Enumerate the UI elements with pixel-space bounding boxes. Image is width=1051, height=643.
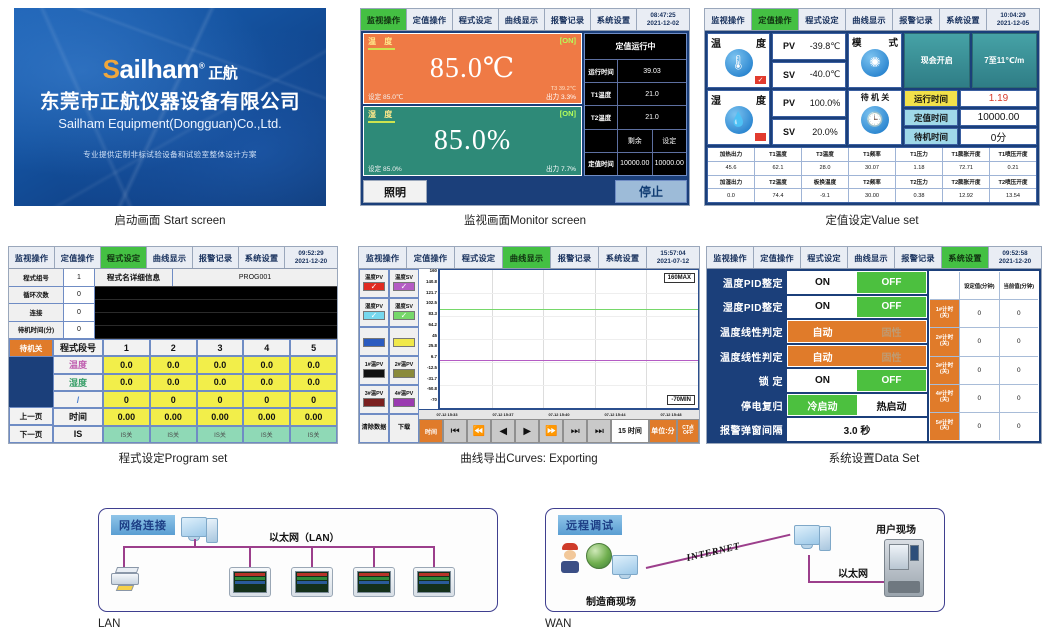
setting-temp-linear-1: 温度线性判定 自动 固性 — [709, 320, 927, 343]
panel-curves-screen: 监视操作 定值操作 程式设定 曲线显示 报警记录 系统设置 15:57:04 2… — [358, 246, 700, 444]
temperature-sv-value: -40.0℃ — [805, 69, 845, 80]
interval-field[interactable]: 15 时间 — [611, 419, 648, 443]
system-settings-list: 温度PID整定 ON OFF 湿度PID整定 ON OFF — [709, 271, 927, 441]
timer-key: 4#计时 (关) — [930, 385, 960, 412]
time-cell[interactable]: 0.00 — [197, 408, 244, 425]
is-cell[interactable]: IS关 — [243, 426, 290, 443]
standby-time-value[interactable]: 0分 — [960, 128, 1037, 145]
timer-key: 2#计时 (关) — [930, 328, 960, 355]
program-screen: 监视操作 定值操作 程式设定 曲线显示 报警记录 系统设置 09:52:29 2… — [8, 246, 338, 444]
unit-button[interactable]: 单位:分 — [649, 419, 677, 443]
setting-toggle: 冷启动 热启动 — [787, 394, 927, 417]
time-mode-button[interactable]: 时间 — [419, 419, 443, 443]
humidity-value: 85.0% — [364, 125, 581, 157]
legend-swatch[interactable] — [393, 369, 415, 378]
legend-item-t2[interactable]: 2#温PV — [389, 356, 419, 385]
clear-data-label: 清除数据 — [362, 425, 387, 431]
standby-off-button[interactable]: 待机关 — [9, 339, 53, 357]
timer-set-value[interactable]: 0 — [960, 357, 1000, 384]
program-clock-date: 2021-12-20 — [295, 258, 327, 266]
option-off[interactable]: OFF — [857, 297, 926, 318]
timer-key: 3#计时 (关) — [930, 357, 960, 384]
is-cell[interactable]: IS关 — [197, 426, 244, 443]
legend-label: 湿度SV — [395, 305, 413, 310]
slash-cell[interactable]: 0 — [197, 391, 244, 408]
globe-icon — [586, 543, 612, 569]
monitor-clock-date: 2021-12-02 — [647, 20, 679, 28]
option-off[interactable]: OFF — [857, 370, 926, 391]
prev-page-button[interactable]: 上一页 — [9, 407, 53, 425]
program-tabbar: 监视操作 定值操作 程式设定 曲线显示 报警记录 系统设置 09:52:29 2… — [9, 247, 337, 269]
nav-fast-back-button[interactable]: ⏪ — [467, 419, 491, 443]
option-cold-start[interactable]: 冷启动 — [788, 395, 857, 416]
row-key-time: 时间 — [53, 408, 103, 425]
valueset-timer-row: 定值时间 10000.00 — [904, 109, 1037, 126]
humi-cell[interactable]: 0.0 — [243, 374, 290, 391]
legend-item-humi-sv[interactable]: 湿度SV — [389, 298, 419, 327]
program-row-time: 时间 0.00 0.00 0.00 0.00 0.00 — [53, 408, 337, 425]
temperature-state: [ON] — [560, 36, 576, 45]
timers-header-current: 当前值(分钟) — [1000, 272, 1039, 299]
ct-off-line2: OFF — [683, 431, 693, 436]
option-fixed[interactable]: 固性 — [857, 321, 926, 342]
fixed-time-value[interactable]: 10000.00 — [960, 109, 1037, 126]
legend-label: 4#温PV — [395, 392, 414, 397]
curves-tabbar: 监视操作 定值操作 程式设定 曲线显示 报警记录 系统设置 15:57:04 2… — [359, 247, 699, 269]
legend-swatch[interactable] — [393, 311, 415, 320]
system-body: 温度PID整定 ON OFF 湿度PID整定 ON OFF — [707, 269, 1041, 443]
setting-lock: 锁 定 ON OFF — [709, 369, 927, 392]
temperature-setpoint: 设定 85.0℃ — [368, 91, 403, 101]
ramp-rate-button[interactable]: 7至11℃/m — [972, 33, 1038, 88]
timer-current-value: 0 — [1000, 385, 1039, 412]
temp-cell[interactable]: 0.0 — [243, 356, 290, 373]
valueset-timer-row: 待机时间 0分 — [904, 128, 1037, 145]
meta-value[interactable]: 0 — [64, 287, 94, 304]
valueset-temp-row: 温 度 🌡 ✓ PV -39.8℃ SV — [707, 33, 1037, 88]
wan-tag: 远程调试 — [558, 515, 622, 535]
col-header: 4 — [243, 339, 290, 356]
nav-fast-forward-button[interactable]: ⏩ — [539, 419, 563, 443]
time-cell[interactable]: 0.00 — [150, 408, 197, 425]
humidity-enable-check[interactable] — [754, 132, 767, 142]
chart-min-badge: -70MIN — [667, 395, 695, 405]
nav-last-button[interactable]: ⏭ — [563, 419, 587, 443]
meta-value[interactable]: 1 — [64, 269, 94, 286]
table-cell: 12.92 — [943, 189, 990, 202]
program-row-humi: 湿度 0.0 0.0 0.0 0.0 0.0 — [53, 374, 337, 391]
tab-valueset[interactable]: 定值操作 — [55, 247, 101, 268]
humidity-sv-value: 20.0% — [805, 127, 845, 137]
legend-row: 3#温PV 4#温PV — [359, 385, 419, 414]
table-cell: T2频率 — [849, 176, 896, 189]
nav-first-button[interactable]: ⏮ — [443, 419, 467, 443]
table-cell: T1频率 — [849, 148, 896, 161]
monitor-footer: 照明 停止 — [361, 178, 689, 205]
tab-program[interactable]: 程式设定 — [101, 247, 147, 268]
tab-valueset[interactable]: 定值操作 — [754, 247, 801, 268]
drop-wire — [249, 546, 251, 568]
temperature-tile-label-b: 度 — [756, 35, 766, 50]
timer-row: 5#计时 (关) 0 0 — [930, 413, 1038, 440]
table-cell: 45.6 — [708, 162, 755, 175]
program-name-value[interactable]: PROG001 — [173, 269, 337, 286]
table-cell: 74.4 — [755, 189, 802, 202]
legend-label: 温度SV — [395, 276, 413, 281]
humidity-pv-key: PV — [773, 98, 805, 108]
program-grid-spacer — [9, 357, 53, 407]
brand-logo-reg: ® — [199, 62, 204, 71]
alarm-interval-field[interactable]: 3.0 秒 — [787, 418, 927, 441]
option-on[interactable]: ON — [788, 297, 857, 318]
timer-row: 4#计时 (关) 0 0 — [930, 385, 1038, 413]
tab-alarms[interactable]: 报警记录 — [895, 247, 942, 268]
drop-wire — [311, 546, 313, 568]
temperature-icon-tile[interactable]: 温 度 🌡 ✓ — [707, 33, 770, 88]
program-name-header: 程式名详细信息 PROG001 — [95, 269, 337, 286]
is-cell[interactable]: IS关 — [103, 426, 150, 443]
alarm-interval-value[interactable]: 3.0 秒 — [788, 419, 926, 440]
setting-toggle: 自动 固性 — [787, 345, 927, 368]
tab-monitor[interactable]: 监视操作 — [705, 9, 752, 30]
valueset-screen: 监视操作 定值操作 程式设定 曲线显示 报警记录 系统设置 10:04:29 2… — [704, 8, 1040, 206]
tab-alarms[interactable]: 报警记录 — [893, 9, 940, 30]
mode-tile-label-b: 式 — [888, 35, 898, 49]
temp-cell[interactable]: 0.0 — [197, 356, 244, 373]
status-subhead-remaining: 剩余 — [618, 130, 653, 152]
series-temp-sv — [440, 360, 698, 361]
tab-valueset[interactable]: 定值操作 — [407, 247, 455, 268]
server-pc-icon — [794, 525, 820, 549]
tab-monitor[interactable]: 监视操作 — [361, 9, 407, 30]
option-on[interactable]: ON — [788, 272, 857, 293]
table-cell: 1.18 — [896, 162, 943, 175]
tab-program[interactable]: 程式设定 — [455, 247, 503, 268]
tab-curves[interactable]: 曲线显示 — [848, 247, 895, 268]
program-name-label[interactable]: 程式名详细信息 — [95, 269, 173, 286]
panel-monitor-screen: 监视操作 定值操作 程式设定 曲线显示 报警记录 系统设置 08:47:25 2… — [360, 8, 690, 206]
humidity-readout[interactable]: 湿 度 [ON] 85.0% 设定 85.0% 出力 7.7% — [363, 106, 582, 177]
valueset-humi-row: 湿 度 💧 PV 100.0% SV — [707, 90, 1037, 145]
timer-key-line2: (关) — [940, 370, 949, 376]
humidity-sv-cell[interactable]: SV 20.0% — [772, 119, 846, 146]
y-tick: 140.8 — [419, 280, 438, 291]
option-auto[interactable]: 自动 — [788, 321, 857, 342]
humidity-setpoint: 设定 85.0% — [368, 163, 402, 173]
setting-toggle: ON OFF — [787, 271, 927, 294]
run-start-button[interactable]: 现会开启 — [904, 33, 970, 88]
option-auto[interactable]: 自动 — [788, 346, 857, 367]
meta-key: 程式组号 — [9, 269, 64, 286]
download-button[interactable]: 下载 — [389, 414, 419, 443]
system-clock-date: 2021-12-20 — [999, 258, 1031, 266]
brand-logo-s: S — [103, 54, 120, 84]
is-cell[interactable]: IS关 — [290, 426, 337, 443]
is-cell[interactable]: IS关 — [150, 426, 197, 443]
system-clock: 09:52:58 2021-12-20 — [989, 247, 1041, 268]
water-drop-icon: 💧 — [725, 106, 753, 134]
timer-current-value: 0 — [1000, 328, 1039, 355]
monitor-status-row: T1温度 21.0 — [585, 83, 686, 106]
humi-cell[interactable]: 0.0 — [290, 374, 337, 391]
meta-value[interactable]: 0 — [64, 322, 94, 339]
legend-swatch[interactable] — [363, 311, 385, 320]
monitor-status-title: 定值运行中 — [585, 34, 686, 60]
interval-label: 时间 — [628, 426, 642, 436]
meta-row: 程式组号 1 — [9, 269, 94, 287]
table-cell: -9.1 — [802, 189, 849, 202]
internet-label: INTERNET — [685, 541, 741, 564]
legend-item-spare-yellow[interactable] — [389, 327, 419, 356]
humidity-output-value: 7.7% — [561, 166, 576, 173]
lan-ethernet-label: 以太网（LAN） — [269, 529, 340, 544]
status-key: T1温度 — [585, 83, 618, 105]
setting-label: 停电复归 — [709, 394, 785, 417]
humidity-state: [ON] — [560, 109, 576, 118]
tab-program[interactable]: 程式设定 — [799, 9, 846, 30]
caption-program: 程式设定Program set — [8, 450, 338, 466]
setting-label: 温度线性判定 — [709, 320, 785, 343]
chart-plot[interactable]: 160MAX -70MIN — [439, 269, 699, 409]
wan-user-label: 用户现场 — [876, 521, 916, 536]
humidity-output-label: 出力 — [546, 166, 559, 173]
program-grid-cols: 程式段号 1 2 3 4 5 温度 0.0 0.0 0.0 0.0 — [53, 339, 337, 443]
temperature-readout[interactable]: 温 度 [ON] 85.0℃ 设定 85.0℃ T3 39.2℃ 出力 3.3% — [363, 33, 582, 104]
program-clock: 09:52:29 2021-12-20 — [285, 247, 337, 268]
tab-system[interactable]: 系统设置 — [591, 9, 637, 30]
humidity-setpoint-value: 85.0% — [383, 166, 402, 173]
temperature-sv-cell[interactable]: SV -40.0℃ — [772, 62, 846, 89]
table-cell: T1膨胀开度 — [943, 148, 990, 161]
temperature-value: 85.0℃ — [364, 51, 581, 85]
wan-site-label: 制造商现场 — [586, 593, 636, 608]
wan-ethernet-label: 以太网 — [838, 565, 868, 580]
temp-cell[interactable]: 0.0 — [103, 356, 150, 373]
x-tick: 07-12 15:40 — [531, 410, 587, 419]
legend-swatch[interactable] — [363, 369, 385, 378]
caption-lan: LAN — [98, 618, 158, 630]
panel-lan-diagram: 网络连接 以太网（LAN） — [98, 508, 498, 612]
setting-label: 湿度PID整定 — [709, 296, 785, 319]
legend-item-temp-pv[interactable]: 温度PV — [359, 269, 389, 298]
slash-cell[interactable]: 0 — [243, 391, 290, 408]
humi-cell[interactable]: 0.0 — [150, 374, 197, 391]
slash-cell[interactable]: 0 — [290, 391, 337, 408]
tab-program[interactable]: 程式设定 — [801, 247, 848, 268]
x-tick: 07-12 15:33 — [419, 410, 475, 419]
program-clock-time: 09:52:29 — [298, 250, 323, 258]
legend-item-t1[interactable]: 1#温PV — [359, 356, 389, 385]
humi-cell[interactable]: 0.0 — [103, 374, 150, 391]
time-cell[interactable]: 0.00 — [243, 408, 290, 425]
panel-valueset-screen: 监视操作 定值操作 程式设定 曲线显示 报警记录 系统设置 10:04:29 2… — [704, 8, 1040, 206]
tab-alarms[interactable]: 报警记录 — [551, 247, 599, 268]
timer-set-value[interactable]: 0 — [960, 328, 1000, 355]
legend-row — [359, 327, 419, 356]
caption-curves: 曲线导出Curves: Exporting — [358, 450, 700, 466]
caption-valueset: 定值设定Value set — [704, 212, 1040, 228]
tab-system[interactable]: 系统设置 — [940, 9, 987, 30]
legend-item-temp-sv[interactable]: 温度SV — [389, 269, 419, 298]
wan-diagram: 远程调试 制造商现场 INTERNET 以太网 用户现场 — [545, 508, 945, 612]
program-grid: 待机关 上一页 下一页 程式段号 1 2 3 4 5 — [9, 339, 337, 443]
temp-cell[interactable]: 0.0 — [290, 356, 337, 373]
stop-button[interactable]: 停止 — [615, 180, 687, 203]
table-cell: T2温度 — [755, 176, 802, 189]
site-pc-icon — [612, 555, 638, 579]
fan-icon: ✺ — [861, 49, 889, 77]
nav-end-button[interactable]: ⏭ — [587, 419, 611, 443]
monitor-timer-row: 定值时间 10000.00 10000.00 — [585, 153, 686, 175]
panel-wan-diagram: 远程调试 制造商现场 INTERNET 以太网 用户现场 — [545, 508, 945, 612]
timer-set-value[interactable]: 0 — [960, 413, 1000, 440]
timer-key-line2: (关) — [940, 398, 949, 404]
timer-key-line2: (关) — [940, 314, 949, 320]
x-tick: 07-12 15:48 — [643, 410, 699, 419]
monitor-readouts: 温 度 [ON] 85.0℃ 设定 85.0℃ T3 39.2℃ 出力 3.3%… — [363, 33, 582, 176]
download-label: 下载 — [398, 425, 410, 431]
time-cell[interactable]: 0.00 — [103, 408, 150, 425]
option-off[interactable]: OFF — [857, 272, 926, 293]
status-subhead-set: 设定 — [653, 130, 687, 152]
legend-swatch[interactable] — [363, 282, 385, 291]
table-cell: 72.71 — [943, 162, 990, 175]
tab-system[interactable]: 系统设置 — [942, 247, 989, 268]
legend-swatch[interactable] — [363, 338, 385, 347]
humi-cell[interactable]: 0.0 — [197, 374, 244, 391]
curves-body: 温度PV 温度SV 湿度PV — [359, 269, 699, 443]
legend-swatch[interactable] — [363, 398, 385, 407]
valueset-clock: 10:04:29 2021-12-05 — [987, 9, 1039, 30]
legend-item-t4[interactable]: 4#温PV — [389, 385, 419, 414]
time-cell[interactable]: 0.00 — [290, 408, 337, 425]
legend-label: 温度PV — [365, 276, 383, 281]
table-row: 加湿出力 T2温度 板换温度 T2频率 T2压力 T2膨胀开度 T2喷压开度 — [708, 176, 1036, 190]
series-humi-sv — [440, 309, 698, 310]
tab-curves[interactable]: 曲线显示 — [846, 9, 893, 30]
temperature-output: 出力 3.3% — [546, 91, 576, 101]
option-fixed[interactable]: 固性 — [857, 346, 926, 367]
timer-key: 5#计时 (关) — [930, 413, 960, 440]
timer-set-value[interactable]: 0 — [960, 300, 1000, 327]
tab-valueset[interactable]: 定值操作 — [407, 9, 453, 30]
legend-swatch[interactable] — [393, 398, 415, 407]
table-row: 45.6 62.1 28.0 30.07 1.18 72.71 0.21 — [708, 162, 1036, 176]
standby-tile-label: 待 机 关 — [852, 92, 898, 103]
row-key-humidity: 湿度 — [53, 374, 103, 391]
tab-valueset[interactable]: 定值操作 — [752, 9, 799, 30]
timer-key-line2: (关) — [940, 342, 949, 348]
standby-icon-tile[interactable]: 待 机 关 🕒 — [848, 90, 902, 145]
table-cell: T1喷压开度 — [990, 148, 1036, 161]
program-body: 程式组号 1 循环次数 0 连接 0 待机时间(分) — [9, 269, 337, 443]
meta-value[interactable]: 0 — [64, 304, 94, 321]
tab-monitor[interactable]: 监视操作 — [707, 247, 754, 268]
slash-cell[interactable]: 0 — [103, 391, 150, 408]
timer-row: 3#计时 (关) 0 0 — [930, 357, 1038, 385]
humidity-pv-cell: PV 100.0% — [772, 90, 846, 117]
panel-system-screen: 监视操作 定值操作 程式设定 曲线显示 报警记录 系统设置 09:52:58 2… — [706, 246, 1042, 444]
humidity-tile-label-b: 度 — [756, 92, 766, 107]
legend-item-t3[interactable]: 3#温PV — [359, 385, 389, 414]
meta-row: 循环次数 0 — [9, 287, 94, 305]
tab-monitor[interactable]: 监视操作 — [9, 247, 55, 268]
temperature-enable-check[interactable]: ✓ — [754, 75, 767, 85]
legend-swatch[interactable] — [393, 282, 415, 291]
monitor-tabbar: 监视操作 定值操作 程式设定 曲线显示 报警记录 系统设置 08:47:25 2… — [361, 9, 689, 31]
table-cell: T1压力 — [896, 148, 943, 161]
tab-curves[interactable]: 曲线显示 — [499, 9, 545, 30]
system-clock-time: 09:52:58 — [1002, 250, 1027, 258]
legend-item-humi-pv[interactable]: 湿度PV — [359, 298, 389, 327]
tab-program[interactable]: 程式设定 — [453, 9, 499, 30]
table-cell: 62.1 — [755, 162, 802, 175]
timer-set-value[interactable]: 0 — [960, 385, 1000, 412]
valueset-top: 温 度 🌡 ✓ PV -39.8℃ SV — [707, 33, 1037, 145]
eth-wire-vertical — [808, 555, 810, 583]
tab-alarms[interactable]: 报警记录 — [193, 247, 239, 268]
tab-curves[interactable]: 曲线显示 — [503, 247, 551, 268]
timer-key: 定值时间 — [585, 153, 618, 175]
ct-off-button[interactable]: CT点 OFF — [677, 419, 699, 443]
setting-label: 锁 定 — [709, 369, 785, 392]
col-header: 1 — [103, 339, 150, 356]
legend-item-spare-blue[interactable] — [359, 327, 389, 356]
program-row-is: IS IS关 IS关 IS关 IS关 IS关 — [53, 426, 337, 443]
nav-back-button[interactable]: ◀ — [491, 419, 515, 443]
tab-curves[interactable]: 曲线显示 — [147, 247, 193, 268]
setting-label: 温度线性判定 — [709, 345, 785, 368]
table-cell: T2喷压开度 — [990, 176, 1036, 189]
tab-alarms[interactable]: 报警记录 — [545, 9, 591, 30]
clear-data-button[interactable]: 清除数据 — [359, 414, 389, 443]
slash-cell[interactable]: 0 — [150, 391, 197, 408]
monitor-clock-time: 08:47:25 — [650, 12, 675, 20]
humidity-icon-tile[interactable]: 湿 度 💧 — [707, 90, 770, 145]
chart-max-badge: 160MAX — [664, 273, 695, 283]
hmi-unit-icon — [229, 567, 271, 597]
legend-swatch[interactable] — [393, 338, 415, 347]
temp-cell[interactable]: 0.0 — [150, 356, 197, 373]
timers-header-set: 设定值(分钟) — [960, 272, 1000, 299]
legend-label: 1#温PV — [365, 363, 384, 368]
tab-monitor[interactable]: 监视操作 — [359, 247, 407, 268]
legend-label: 2#温PV — [395, 363, 414, 368]
nav-forward-button[interactable]: ▶ — [515, 419, 539, 443]
program-name-blank — [95, 286, 337, 339]
temperature-title: 温 度 — [368, 36, 395, 50]
light-button[interactable]: 照明 — [363, 180, 427, 203]
tab-system[interactable]: 系统设置 — [239, 247, 285, 268]
program-name-area: 程式名详细信息 PROG001 — [95, 269, 337, 339]
valueset-tabbar: 监视操作 定值操作 程式设定 曲线显示 报警记录 系统设置 10:04:29 2… — [705, 9, 1039, 31]
status-subhead-key — [585, 130, 618, 152]
table-cell: 30.00 — [849, 189, 896, 202]
run-time-key: 运行时间 — [904, 90, 958, 107]
company-name-cn: 东莞市正航仪器设备有限公司 — [40, 90, 300, 114]
meta-row: 待机时间(分) 0 — [9, 322, 94, 340]
mode-icon-tile[interactable]: 模 式 ✺ — [848, 33, 902, 88]
option-hot-start[interactable]: 热启动 — [857, 395, 926, 416]
option-on[interactable]: ON — [788, 370, 857, 391]
status-key: 运行时间 — [585, 60, 618, 82]
timer-row: 1#计时 (关) 0 0 — [930, 300, 1038, 328]
tab-system[interactable]: 系统设置 — [599, 247, 647, 268]
next-page-button[interactable]: 下一页 — [9, 425, 53, 443]
setting-label: 温度PID整定 — [709, 271, 785, 294]
program-row-slash: / 0 0 0 0 0 — [53, 391, 337, 408]
chart-y-axis: 160 140.8 121.7 102.5 83.3 64.2 45 25.8 … — [419, 269, 439, 409]
